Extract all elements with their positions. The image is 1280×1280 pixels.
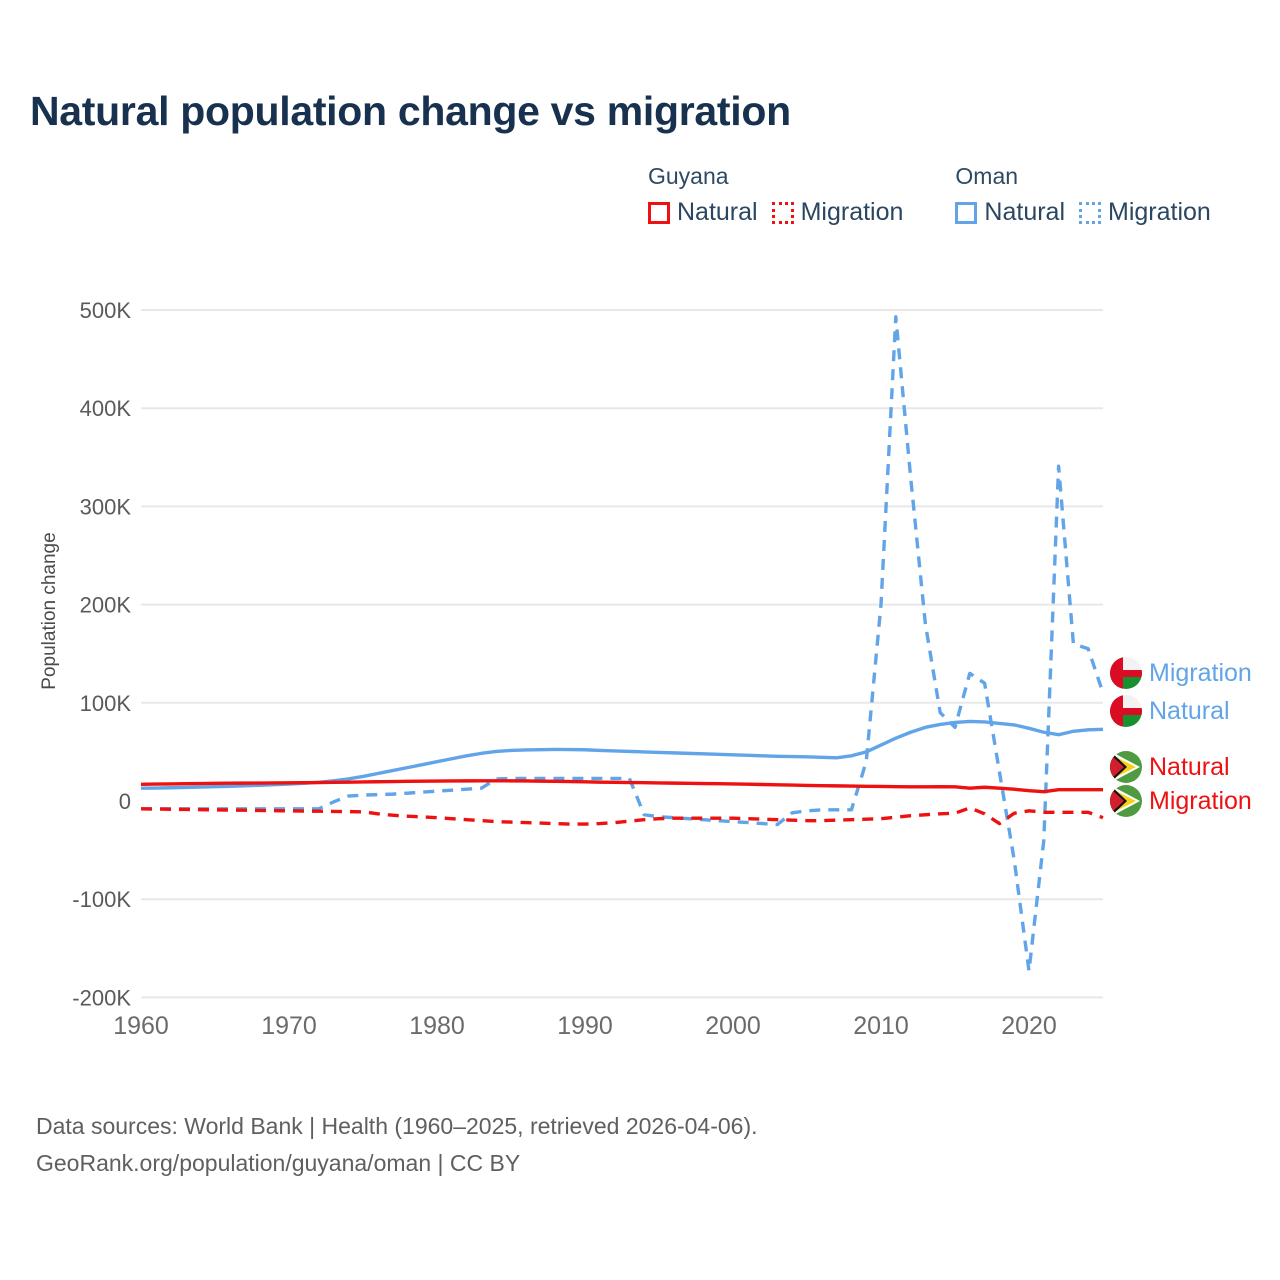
series-line-oman-natural bbox=[141, 721, 1103, 788]
y-axis-tick-label: 100K bbox=[80, 691, 132, 716]
series-end-label[interactable]: Natural bbox=[1110, 695, 1230, 727]
x-axis-tick-label: 2000 bbox=[705, 1012, 761, 1040]
legend-swatch-solid-icon bbox=[648, 202, 670, 224]
series-end-label-text: Migration bbox=[1149, 659, 1252, 688]
legend-item-label: Migration bbox=[801, 198, 904, 227]
page-title: Natural population change vs migration bbox=[30, 88, 791, 135]
series-end-label[interactable]: Migration bbox=[1110, 785, 1252, 817]
x-axis-tick-label: 2020 bbox=[1001, 1012, 1057, 1040]
x-axis-tick-label: 1980 bbox=[409, 1012, 465, 1040]
legend-item-oman-natural[interactable]: Natural bbox=[955, 198, 1065, 227]
series-line-guyana-natural bbox=[141, 781, 1103, 792]
legend-swatch-solid-icon bbox=[955, 202, 977, 224]
series-end-label-text: Migration bbox=[1149, 787, 1252, 816]
guyana-flag-chevron bbox=[1110, 754, 1124, 780]
legend-swatch-dotted-icon bbox=[1079, 202, 1101, 224]
series-end-label[interactable]: Migration bbox=[1110, 657, 1252, 689]
legend-swatch-dotted-icon bbox=[772, 202, 794, 224]
legend-group-guyana: Guyana Natural Migration bbox=[648, 163, 903, 227]
series-line-oman-migration bbox=[141, 317, 1103, 971]
y-axis-label: Population change bbox=[39, 501, 61, 721]
legend-item-label: Migration bbox=[1108, 198, 1211, 227]
legend-group-oman: Oman Natural Migration bbox=[955, 163, 1210, 227]
chart-footer: Data sources: World Bank | Health (1960–… bbox=[36, 1108, 758, 1183]
oman-flag-icon bbox=[1110, 657, 1142, 689]
series-end-label[interactable]: Natural bbox=[1110, 751, 1230, 783]
legend-item-label: Natural bbox=[984, 198, 1065, 227]
y-axis-tick-label: 300K bbox=[80, 494, 132, 519]
chart-legend: Guyana Natural Migration Oman Natural Mi… bbox=[648, 163, 1211, 227]
x-axis-tick-label: 1960 bbox=[113, 1012, 169, 1040]
y-axis-tick-label: -100K bbox=[72, 887, 131, 912]
y-axis-tick-label: 200K bbox=[80, 593, 132, 618]
footer-data-sources: Data sources: World Bank | Health (1960–… bbox=[36, 1108, 758, 1145]
footer-attribution: GeoRank.org/population/guyana/oman | CC … bbox=[36, 1145, 758, 1182]
x-axis-tick-label: 1970 bbox=[261, 1012, 317, 1040]
oman-flag-icon bbox=[1110, 695, 1142, 727]
y-axis-tick-label: 0 bbox=[119, 789, 131, 814]
series-line-guyana-migration bbox=[141, 808, 1103, 824]
legend-item-oman-migration[interactable]: Migration bbox=[1079, 198, 1211, 227]
guyana-flag-icon bbox=[1110, 751, 1142, 783]
guyana-flag-icon bbox=[1110, 785, 1142, 817]
legend-item-guyana-natural[interactable]: Natural bbox=[648, 198, 758, 227]
x-axis-tick-label: 1990 bbox=[557, 1012, 613, 1040]
legend-item-guyana-migration[interactable]: Migration bbox=[772, 198, 904, 227]
series-end-label-text: Natural bbox=[1149, 753, 1230, 782]
legend-country-label: Guyana bbox=[648, 163, 903, 190]
y-axis-tick-label: -200K bbox=[72, 985, 131, 1010]
y-axis-tick-label: 500K bbox=[80, 298, 132, 323]
guyana-flag-chevron bbox=[1110, 788, 1124, 814]
legend-country-label: Oman bbox=[955, 163, 1210, 190]
x-axis-tick-label: 2010 bbox=[853, 1012, 909, 1040]
legend-item-label: Natural bbox=[677, 198, 758, 227]
y-axis-tick-label: 400K bbox=[80, 396, 132, 421]
series-end-label-text: Natural bbox=[1149, 697, 1230, 726]
